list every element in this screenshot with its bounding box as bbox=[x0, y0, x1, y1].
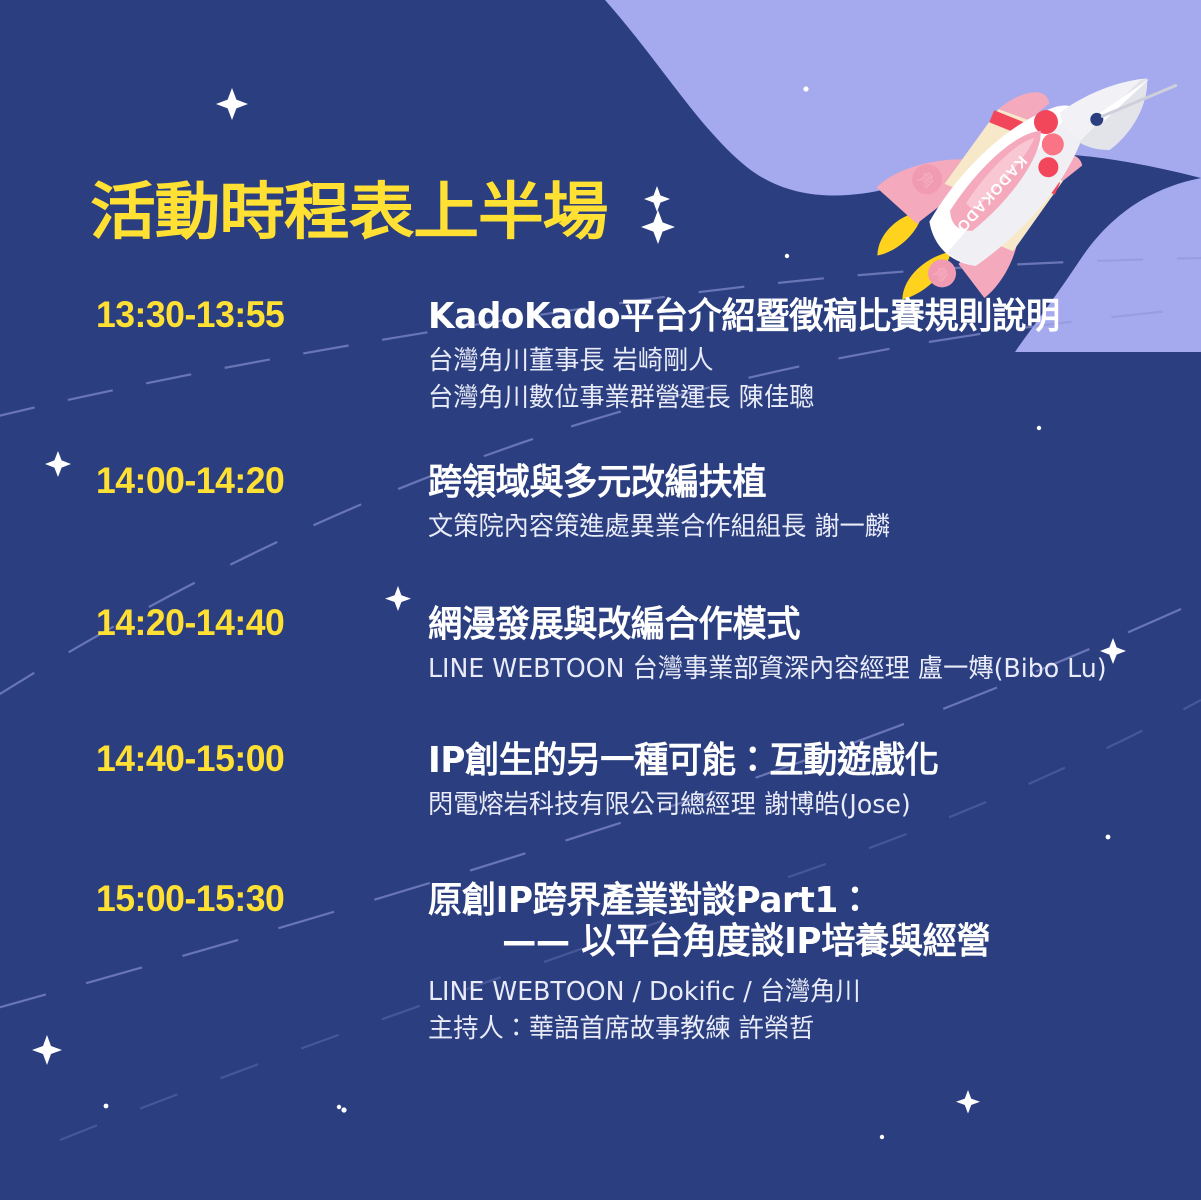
entry-title: IP創生的另一種可能：互動遊戲化 bbox=[428, 740, 1150, 781]
entry-time: 14:00-14:20 bbox=[96, 462, 384, 499]
entry-time: 15:00-15:30 bbox=[96, 880, 384, 917]
entry-time: 14:40-15:00 bbox=[96, 740, 384, 777]
entry-speaker: 台灣角川數位事業群營運長 陳佳聰 bbox=[428, 380, 1165, 417]
entry-body: 網漫發展與改編合作模式 LINE WEBTOON 台灣事業部資深內容經理 盧一嫥… bbox=[428, 604, 1188, 688]
entry-speaker: 文策院內容策進處異業合作組組長 謝一麟 bbox=[428, 509, 1165, 546]
entry-time: 13:30-13:55 bbox=[96, 296, 384, 333]
entry-title: KadoKado平台介紹暨徵稿比賽規則說明 bbox=[428, 296, 1150, 337]
entry-title: 原創IP跨界產業對談Part1： bbox=[428, 880, 1150, 921]
entry-title: 網漫發展與改編合作模式 bbox=[428, 604, 1150, 645]
entry-body: KadoKado平台介紹暨徵稿比賽規則說明 台灣角川董事長 岩崎剛人 台灣角川數… bbox=[428, 296, 1188, 417]
entry-time: 14:20-14:40 bbox=[96, 604, 384, 641]
entry-speaker: 主持人：華語首席故事教練 許榮哲 bbox=[428, 1011, 1165, 1048]
entry-speaker: 台灣角川董事長 岩崎剛人 bbox=[428, 343, 1165, 380]
entry-speaker: LINE WEBTOON / Dokific / 台灣角川 bbox=[428, 974, 1165, 1011]
entry-title: —— 以平台角度談IP培養與經營 bbox=[428, 921, 1150, 962]
event-schedule-poster: KADOKADO 角 角 活動時程表上半場 bbox=[0, 0, 1201, 1200]
page-title: 活動時程表上半場 bbox=[90, 181, 607, 243]
entry-body: 跨領域與多元改編扶植 文策院內容策進處異業合作組組長 謝一麟 bbox=[428, 462, 1188, 546]
entry-speaker: 閃電熔岩科技有限公司總經理 謝博皓(Jose) bbox=[428, 787, 1165, 824]
entry-speaker: LINE WEBTOON 台灣事業部資深內容經理 盧一嫥(Bibo Lu) bbox=[428, 651, 1165, 688]
entry-body: 原創IP跨界產業對談Part1： —— 以平台角度談IP培養與經營 LINE W… bbox=[428, 880, 1188, 1048]
entry-title: 跨領域與多元改編扶植 bbox=[428, 462, 1150, 503]
entry-body: IP創生的另一種可能：互動遊戲化 閃電熔岩科技有限公司總經理 謝博皓(Jose) bbox=[428, 740, 1188, 824]
